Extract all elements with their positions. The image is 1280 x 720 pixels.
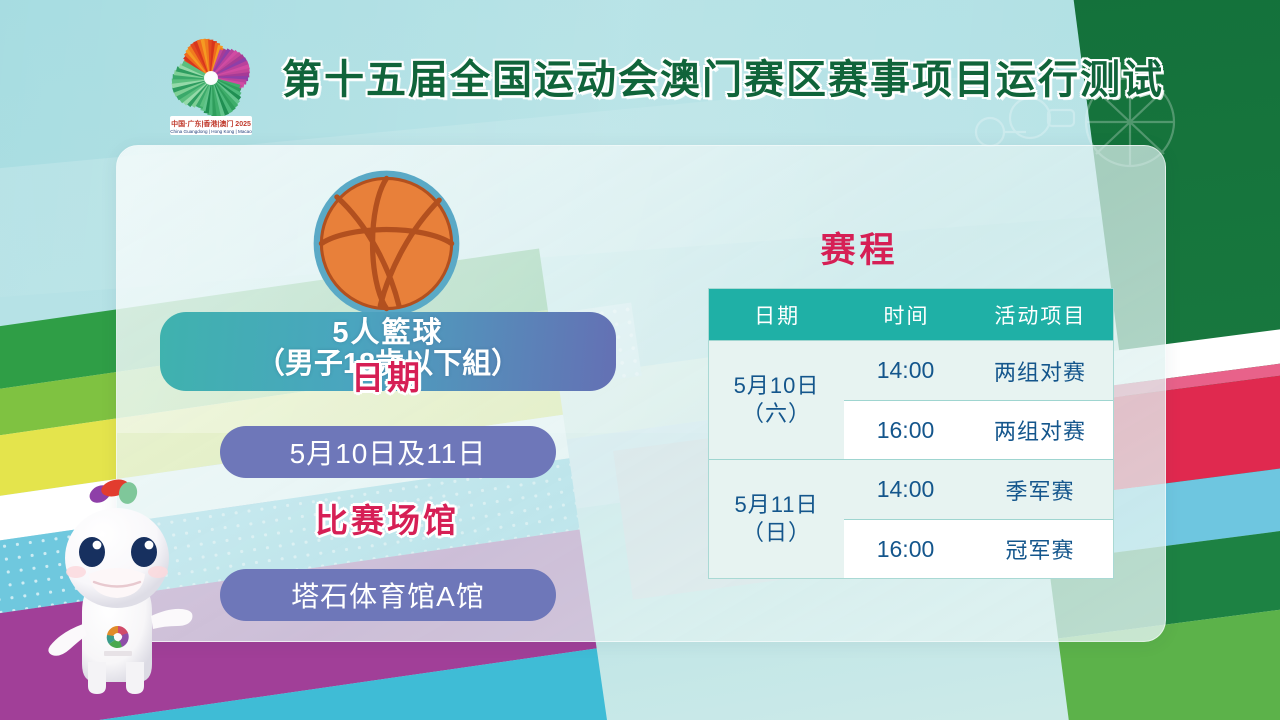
date-line1: 5月11日 <box>734 491 818 519</box>
table-subrows: 14:00 季军赛 16:00 冠军赛 <box>844 460 1113 578</box>
table-cell-time: 14:00 <box>844 357 967 384</box>
venue-value-pill: 塔石体育馆A馆 <box>220 569 556 621</box>
basketball-icon <box>309 166 464 321</box>
logo-caption-cn: 中国·广东|香港|澳门 2025 <box>171 119 251 128</box>
table-row-group: 5月11日 （日） 14:00 季军赛 16:00 冠军赛 <box>709 459 1113 578</box>
table-cell-time: 16:00 <box>844 536 967 563</box>
schedule-table-header: 日期 时间 活动项目 <box>709 289 1113 340</box>
table-row: 14:00 两组对赛 <box>844 341 1113 400</box>
table-row: 16:00 冠军赛 <box>844 519 1113 578</box>
table-subrows: 14:00 两组对赛 16:00 两组对赛 <box>844 341 1113 459</box>
date-line1: 5月10日 <box>734 372 820 400</box>
chinese-white-dolphin-mascot-icon <box>22 462 212 720</box>
event-info-card: 5人籃球 （男子18歲以下組） 日期 5月10日及11日 比赛场馆 塔石体育馆A… <box>116 145 1166 642</box>
column-header-time: 时间 <box>845 300 967 330</box>
table-row-group: 5月10日 （六） 14:00 两组对赛 16:00 两组对赛 <box>709 340 1113 459</box>
sport-name-line1: 5人籃球 <box>160 318 616 349</box>
date-label: 日期 <box>117 351 657 399</box>
table-cell-time: 16:00 <box>844 417 967 444</box>
table-cell-event: 两组对赛 <box>967 414 1113 446</box>
table-cell-date: 5月11日 （日） <box>709 460 844 578</box>
schedule-table: 日期 时间 活动项目 5月10日 （六） 14:00 两组对赛 16:00 两组… <box>708 288 1114 579</box>
table-cell-event: 冠军赛 <box>967 533 1113 565</box>
date-line2: （日） <box>742 519 811 547</box>
mascot-chest-emblem-icon <box>103 623 133 656</box>
table-row: 14:00 季军赛 <box>844 460 1113 519</box>
table-cell-event: 季军赛 <box>967 474 1113 506</box>
column-header-event: 活动项目 <box>968 300 1113 330</box>
schedule-title: 赛程 <box>587 222 1132 273</box>
mascot-crest <box>87 477 140 506</box>
page-header: 中国·广东|香港|澳门 2025 China Guangdong | Hong … <box>0 0 1280 145</box>
date-value-pill: 5月10日及11日 <box>220 426 556 478</box>
games-emblem-logo-icon: 中国·广东|香港|澳门 2025 China Guangdong | Hong … <box>158 28 264 140</box>
table-cell-date: 5月10日 （六） <box>709 341 844 459</box>
table-cell-event: 两组对赛 <box>967 355 1113 387</box>
table-cell-time: 14:00 <box>844 476 967 503</box>
table-row: 16:00 两组对赛 <box>844 400 1113 459</box>
logo-caption-en: China Guangdong | Hong Kong | Macao <box>170 129 252 134</box>
page-title: 第十五届全国运动会澳门赛区赛事项目运行测试 <box>282 47 1164 105</box>
column-header-date: 日期 <box>709 300 845 330</box>
date-line2: （六） <box>742 400 811 428</box>
schedule-column: 赛程 日期 时间 活动项目 5月10日 （六） 14:00 两组对赛 <box>587 146 1167 643</box>
